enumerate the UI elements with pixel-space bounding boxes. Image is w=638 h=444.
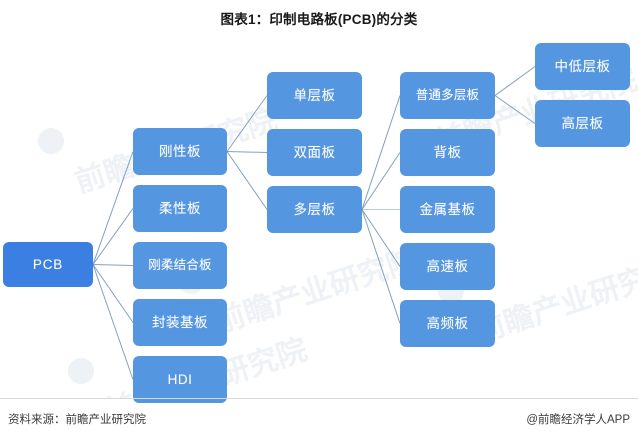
node-label: 金属基板 — [420, 203, 476, 217]
node-single[interactable]: 单层板 — [267, 72, 362, 119]
node-label: 双面板 — [294, 146, 336, 160]
node-label: 高频板 — [427, 317, 469, 331]
edge-rigid-to-double — [227, 152, 267, 153]
node-label: 单层板 — [294, 89, 336, 103]
edge-normalmulti-to-highlayer — [495, 96, 535, 124]
node-highlayer[interactable]: 高层板 — [535, 100, 630, 147]
node-label: PCB — [33, 258, 63, 272]
node-label: 中低层板 — [555, 60, 611, 74]
node-double[interactable]: 双面板 — [267, 129, 362, 176]
edge-pcb-to-substrate — [93, 265, 133, 323]
edge-multi-to-normalmulti — [362, 96, 400, 210]
node-label: 刚柔结合板 — [148, 259, 212, 272]
node-metalbase[interactable]: 金属基板 — [400, 186, 495, 233]
node-highfreq[interactable]: 高频板 — [400, 300, 495, 347]
edge-multi-to-highfreq — [362, 210, 400, 324]
footer-app-credit: @前瞻经济学人APP — [526, 411, 630, 427]
node-highspeed[interactable]: 高速板 — [400, 243, 495, 290]
node-pcb[interactable]: PCB — [3, 242, 93, 287]
node-label: 柔性板 — [159, 202, 201, 216]
edge-rigid-to-multi — [227, 152, 267, 210]
node-label: 高速板 — [427, 260, 469, 274]
edge-multi-to-backplane — [362, 153, 400, 210]
node-substrate[interactable]: 封装基板 — [133, 299, 227, 346]
edge-normalmulti-to-lowmidlayer — [495, 67, 535, 96]
node-lowmidlayer[interactable]: 中低层板 — [535, 43, 630, 90]
node-normalmulti[interactable]: 普通多层板 — [400, 72, 495, 119]
edge-pcb-to-flex — [93, 209, 133, 265]
node-rigid[interactable]: 刚性板 — [133, 128, 227, 175]
node-label: 普通多层板 — [416, 89, 480, 102]
node-label: 多层板 — [294, 203, 336, 217]
node-hdi[interactable]: HDI — [133, 356, 227, 403]
edge-pcb-to-hdi — [93, 265, 133, 380]
edge-rigid-to-single — [227, 96, 267, 152]
node-label: 刚性板 — [159, 145, 201, 159]
node-label: 封装基板 — [152, 316, 208, 330]
footer-source: 资料来源：前瞻产业研究院 — [8, 411, 146, 427]
edge-multi-to-highspeed — [362, 210, 400, 267]
node-label: HDI — [168, 373, 193, 387]
node-rigidflex[interactable]: 刚柔结合板 — [133, 242, 227, 289]
page-title: 图表1：印制电路板(PCB)的分类 — [0, 8, 638, 28]
diagram-canvas: 前瞻产业研究院前瞻产业研究院前瞻产业研究院前瞻产业研究院前瞻产业研究院 PCB刚… — [0, 26, 638, 398]
footer: 资料来源：前瞻产业研究院 @前瞻经济学人APP — [0, 398, 638, 444]
node-flex[interactable]: 柔性板 — [133, 185, 227, 232]
node-label: 高层板 — [562, 117, 604, 131]
node-multi[interactable]: 多层板 — [267, 186, 362, 233]
edge-pcb-to-rigid — [93, 152, 133, 265]
edge-pcb-to-rigidflex — [93, 265, 133, 266]
node-backplane[interactable]: 背板 — [400, 129, 495, 176]
node-label: 背板 — [434, 146, 462, 160]
